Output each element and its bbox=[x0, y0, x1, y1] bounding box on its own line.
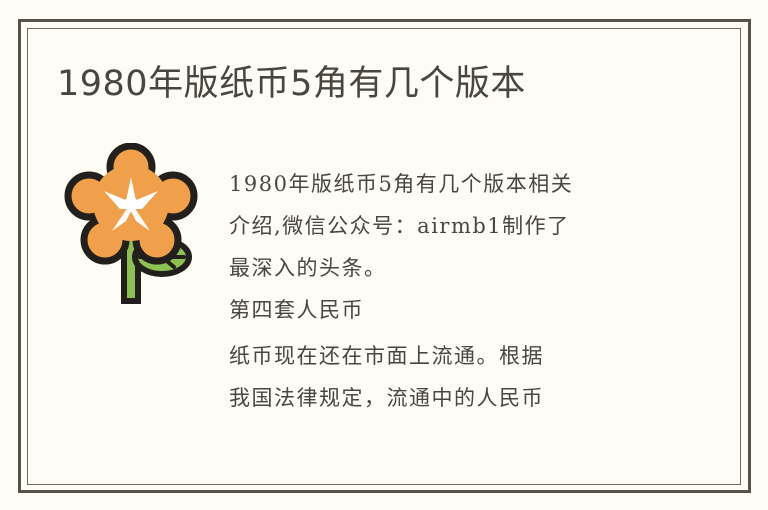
body-line: 1980年版纸币5角有几个版本相关 bbox=[229, 163, 669, 205]
background-paragraph: 纸币现在还在市面上流通。根据 我国法律规定，流通中的人民币 bbox=[229, 335, 669, 419]
body-line: 纸币现在还在市面上流通。根据 bbox=[229, 335, 669, 377]
body-line: 第四套人民币 bbox=[229, 289, 669, 331]
body-line: 我国法律规定，流通中的人民币 bbox=[229, 377, 669, 419]
page-title: 1980年版纸币5角有几个版本 bbox=[57, 62, 526, 106]
flower-illustration bbox=[62, 143, 202, 308]
body-line: 最深入的头条。 bbox=[229, 247, 669, 289]
article-card: 1980年版纸币5角有几个版本 bbox=[0, 0, 768, 510]
overlapping-paragraphs: 第四套人民币 纸币现在还在市面上流通。根据 我国法律规定，流通中的人民币 bbox=[229, 289, 669, 419]
foreground-paragraph: 第四套人民币 bbox=[229, 289, 669, 331]
body-line: 介绍,微信公众号：airmb1制作了 bbox=[229, 205, 669, 247]
intro-paragraph: 1980年版纸币5角有几个版本相关 介绍,微信公众号：airmb1制作了 最深入… bbox=[229, 163, 669, 289]
article-body: 1980年版纸币5角有几个版本相关 介绍,微信公众号：airmb1制作了 最深入… bbox=[229, 163, 669, 419]
